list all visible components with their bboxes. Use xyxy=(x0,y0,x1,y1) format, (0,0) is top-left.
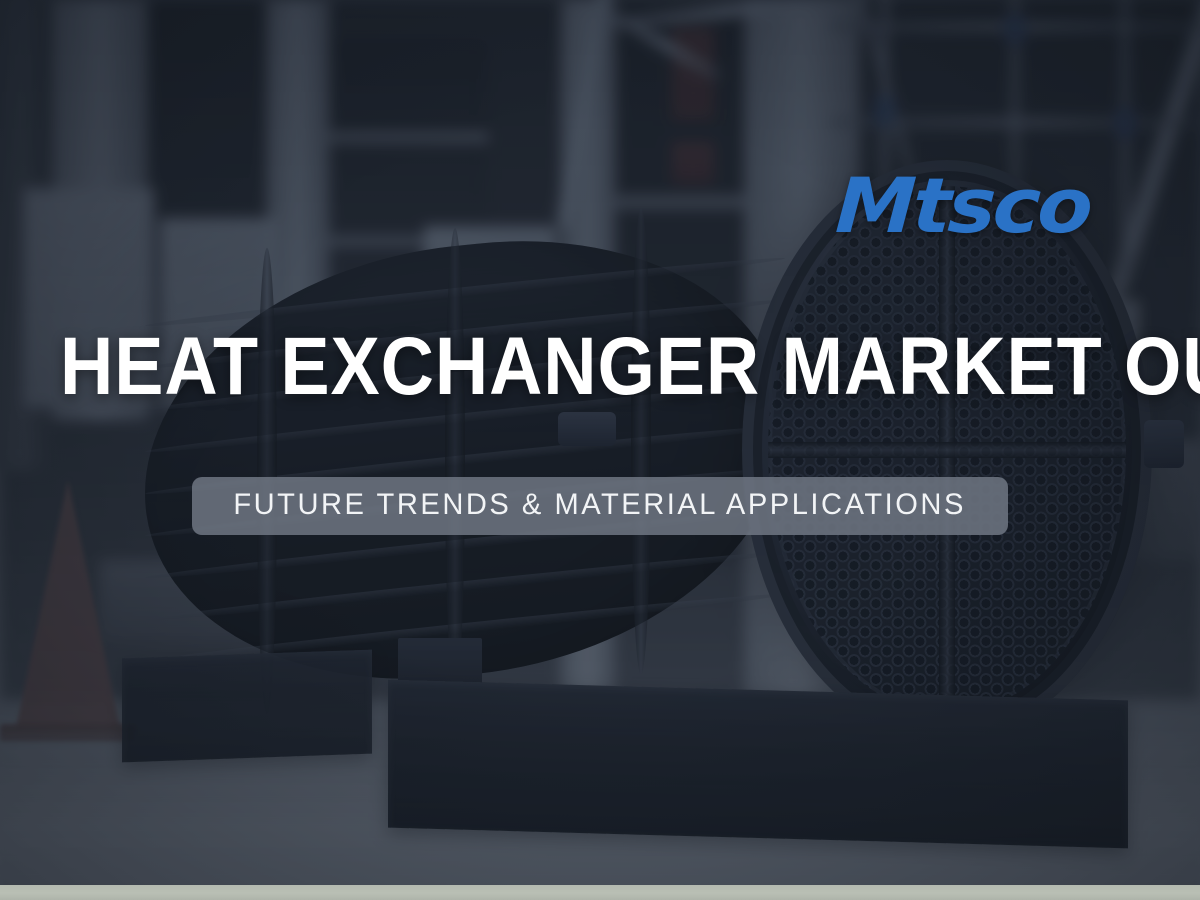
marketing-banner: Mtsco HEAT EXCHANGER MARKET OUTLOOK FUTU… xyxy=(0,0,1200,900)
subtitle-text: FUTURE TRENDS & MATERIAL APPLICATIONS xyxy=(234,488,967,522)
page-title: HEAT EXCHANGER MARKET OUTLOOK xyxy=(60,325,1140,409)
banner-content: Mtsco HEAT EXCHANGER MARKET OUTLOOK FUTU… xyxy=(0,0,1200,900)
subtitle-bar-wrapper: FUTURE TRENDS & MATERIAL APPLICATIONS xyxy=(0,477,1200,535)
subtitle-bar: FUTURE TRENDS & MATERIAL APPLICATIONS xyxy=(192,477,1007,535)
mtsco-logo[interactable]: Mtsco xyxy=(834,168,1092,244)
bottom-accent-strip xyxy=(0,885,1200,900)
